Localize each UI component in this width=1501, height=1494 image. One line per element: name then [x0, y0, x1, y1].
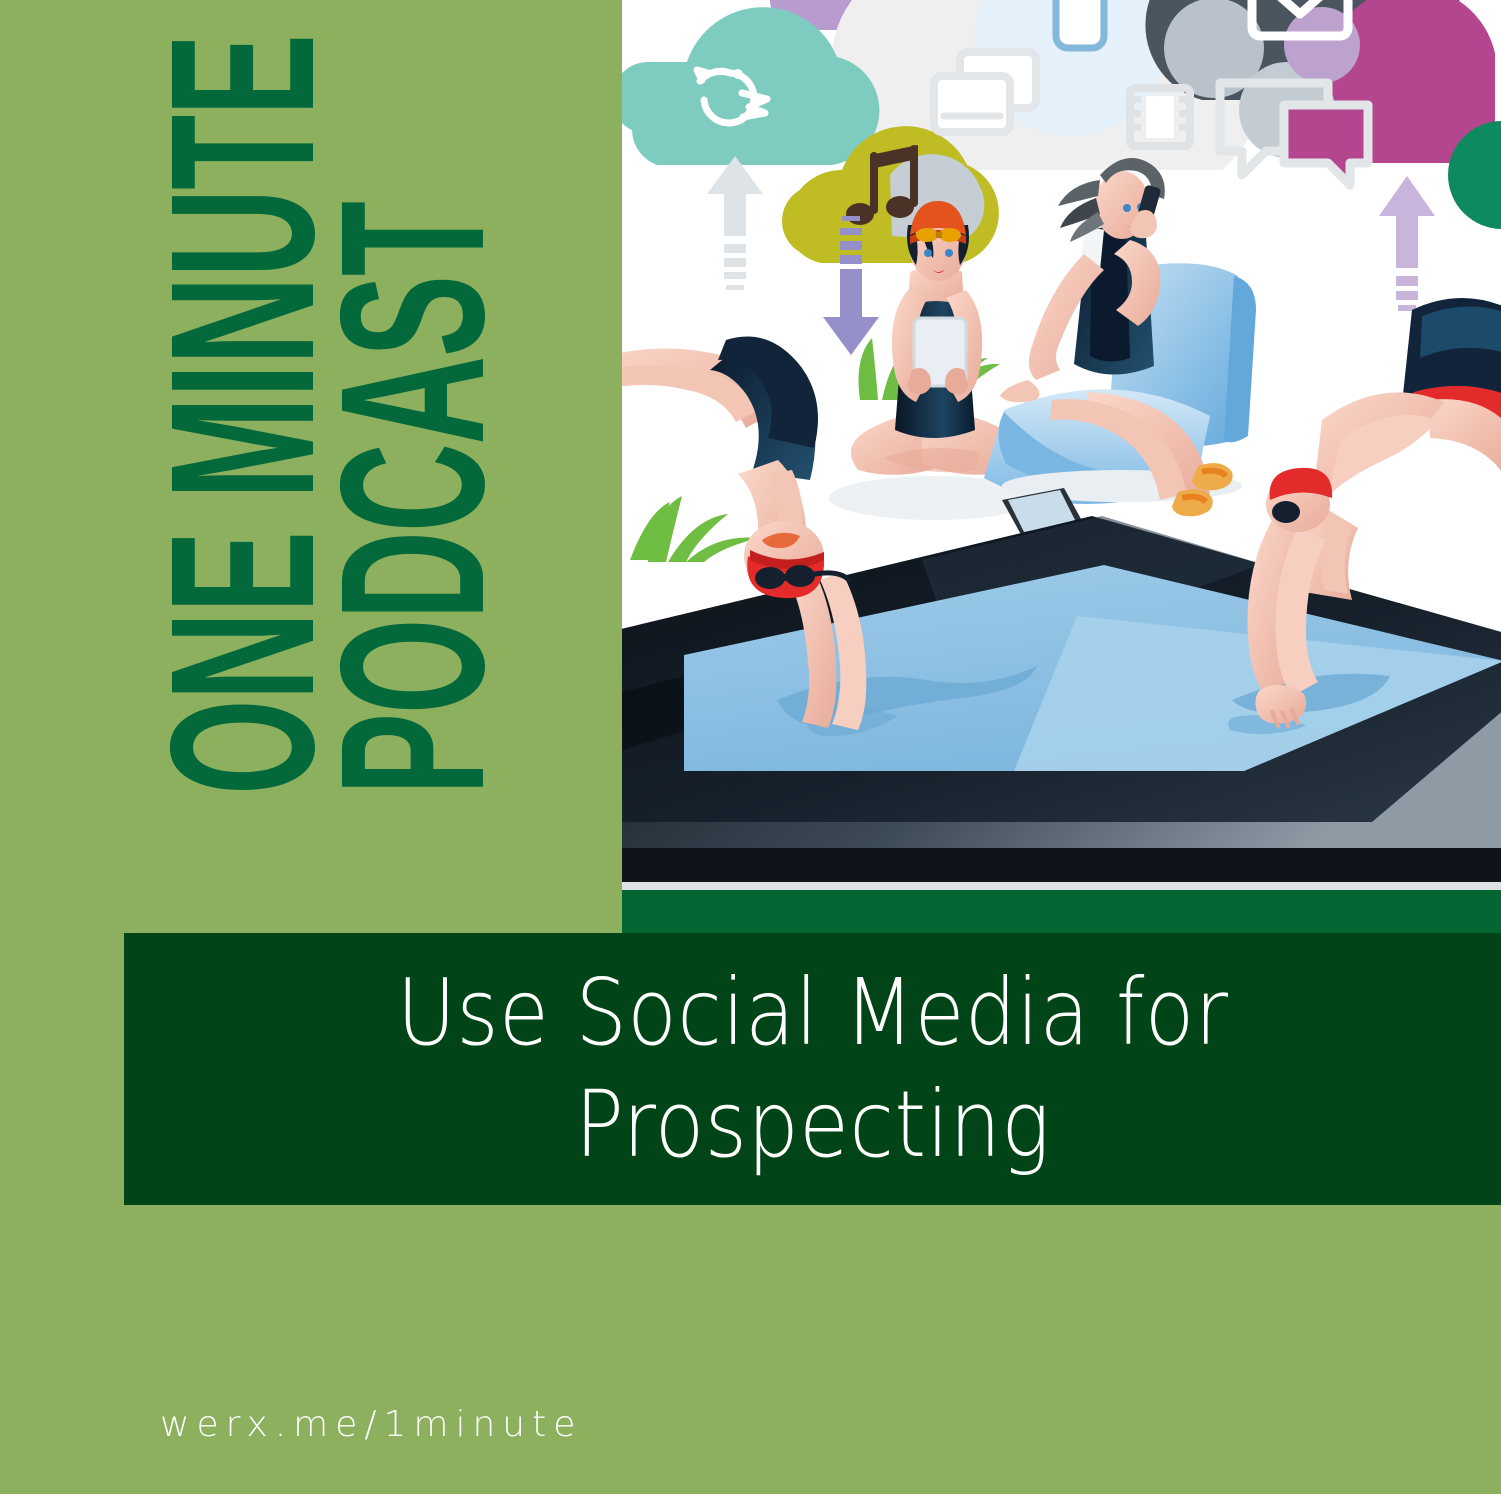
illustration-panel	[622, 0, 1501, 934]
accent-strip	[622, 890, 1501, 933]
mobile-phone-icon	[1056, 0, 1104, 48]
diver-goggles-right	[1272, 501, 1300, 523]
episode-title-banner: Use Social Media for Prospecting	[124, 933, 1501, 1205]
brand-line-podcast: PODCAST	[310, 202, 515, 795]
footer-url[interactable]: werx.me/1minute	[160, 1404, 582, 1445]
episode-title: Use Social Media for Prospecting	[361, 957, 1263, 1181]
podcast-cover: ONE MINUTE PODCAST Use Social Media for …	[0, 0, 1501, 1494]
